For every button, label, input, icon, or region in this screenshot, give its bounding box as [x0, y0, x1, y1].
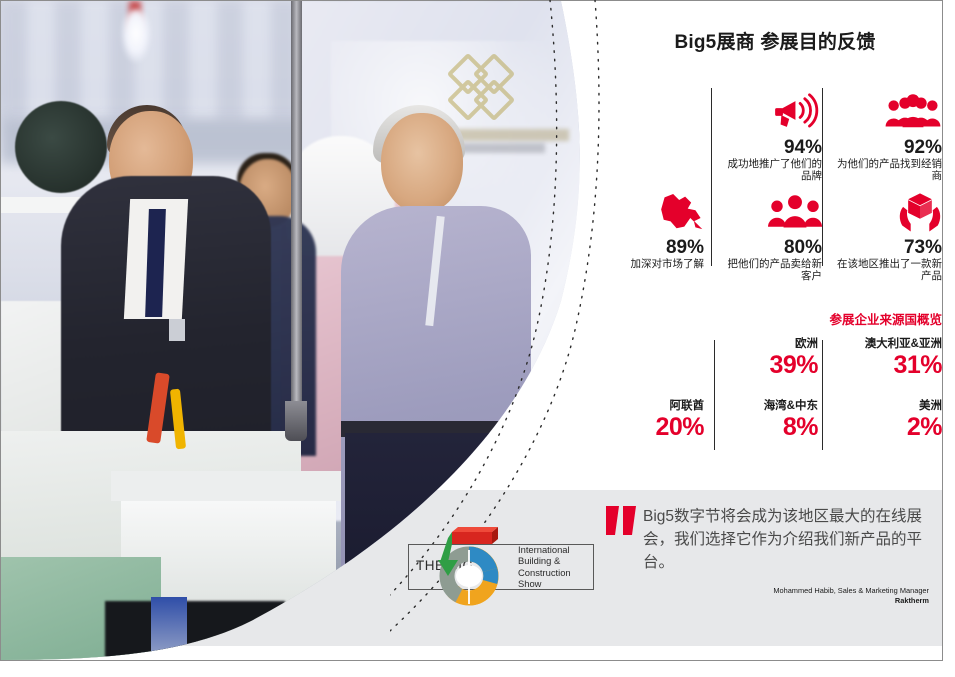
stat-value: 73% — [830, 238, 942, 257]
photo-machine-wheel — [15, 101, 107, 193]
stat-caption: 把他们的产品卖给新客户 — [718, 258, 822, 282]
geo-divider-right — [822, 340, 823, 450]
hands-box-icon — [830, 190, 942, 236]
photo-booth-logo — [453, 59, 511, 117]
megaphone-icon — [718, 90, 822, 136]
photo-booth-logo-text — [449, 129, 569, 141]
logo-tagline: International Building & Construction Sh… — [518, 544, 571, 590]
geo-label: 美洲 — [830, 400, 942, 413]
geo-australia-asia: 澳大利亚&亚洲 31% — [830, 338, 942, 379]
geo-americas: 美洲 2% — [830, 400, 942, 441]
geo-label: 澳大利亚&亚洲 — [830, 338, 942, 351]
geo-divider-left — [714, 340, 715, 450]
quote-attribution: Mohammed Habib, Sales & Marketing Manage… — [640, 586, 929, 605]
geo-gulf-middle-east: 海湾&中东 8% — [718, 400, 818, 441]
stat-launch-new-product: 73% 在该地区推出了一款新产品 — [830, 190, 942, 282]
geo-value: 20% — [600, 413, 704, 441]
stat-caption: 为他们的产品找到经销商 — [830, 158, 942, 182]
geo-value: 39% — [718, 351, 818, 379]
photo-person-1-badge — [169, 319, 185, 341]
map-region-icon — [600, 190, 704, 236]
people-group-icon — [830, 90, 942, 136]
geo-label: 海湾&中东 — [718, 400, 818, 413]
stat-value: 94% — [718, 138, 822, 157]
quote-mark-icon — [606, 506, 638, 536]
stat-sell-new-customers: 80% 把他们的产品卖给新客户 — [718, 190, 822, 282]
the-big-5-logo: THE BIG International Building & Constru… — [408, 536, 594, 598]
geo-label: 欧洲 — [718, 338, 818, 351]
logo-tagline-line-3: Construction — [518, 567, 571, 578]
quote-company: Raktherm — [640, 596, 929, 606]
stat-caption: 成功地推广了他们的品牌 — [718, 158, 822, 182]
geography-heading: 参展企业来源国概览 — [610, 309, 942, 328]
stat-market-insight: 89% 加深对市场了解 — [600, 190, 704, 270]
three-people-icon — [718, 190, 822, 236]
stats-divider-left — [711, 88, 712, 266]
photo-lamp — [121, 9, 151, 63]
poster-canvas: Big5展商 参展目的反馈 94% 成功地推广了他们的品牌 — [0, 0, 955, 677]
stats-divider-right — [822, 88, 823, 266]
quote-author: Mohammed Habib, Sales & Marketing Manage… — [773, 586, 929, 595]
photo-person-2-head — [381, 113, 463, 213]
logo-tagline-line-2: Building & — [518, 555, 571, 566]
stat-promote-brand: 94% 成功地推广了他们的品牌 — [718, 90, 822, 182]
photo-bench-top — [111, 471, 341, 501]
geo-value: 2% — [830, 413, 942, 441]
logo-tagline-line-1: International — [518, 544, 571, 555]
logo-numeral-5 — [428, 524, 510, 610]
stat-find-distributor: 92% 为他们的产品找到经销商 — [830, 90, 942, 182]
stat-value: 80% — [718, 238, 822, 257]
photo-hanging-rod — [291, 1, 302, 431]
geo-europe: 欧洲 39% — [718, 338, 818, 379]
photo-rod-tip — [285, 401, 307, 441]
stat-caption: 在该地区推出了一款新产品 — [830, 258, 942, 282]
page-title: Big5展商 参展目的反馈 — [610, 27, 940, 54]
stat-caption: 加深对市场了解 — [600, 258, 704, 270]
geo-value: 8% — [718, 413, 818, 441]
stat-value: 89% — [600, 238, 704, 257]
logo-tagline-line-4: Show — [518, 578, 571, 589]
geo-uae: 阿联酋 20% — [600, 400, 704, 441]
geo-value: 31% — [830, 351, 942, 379]
geo-label: 阿联酋 — [600, 400, 704, 413]
stat-value: 92% — [830, 138, 942, 157]
quote-text: Big5数字节将会成为该地区最大的在线展会，我们选择它作为介绍我们新产品的平台。 — [643, 505, 929, 574]
